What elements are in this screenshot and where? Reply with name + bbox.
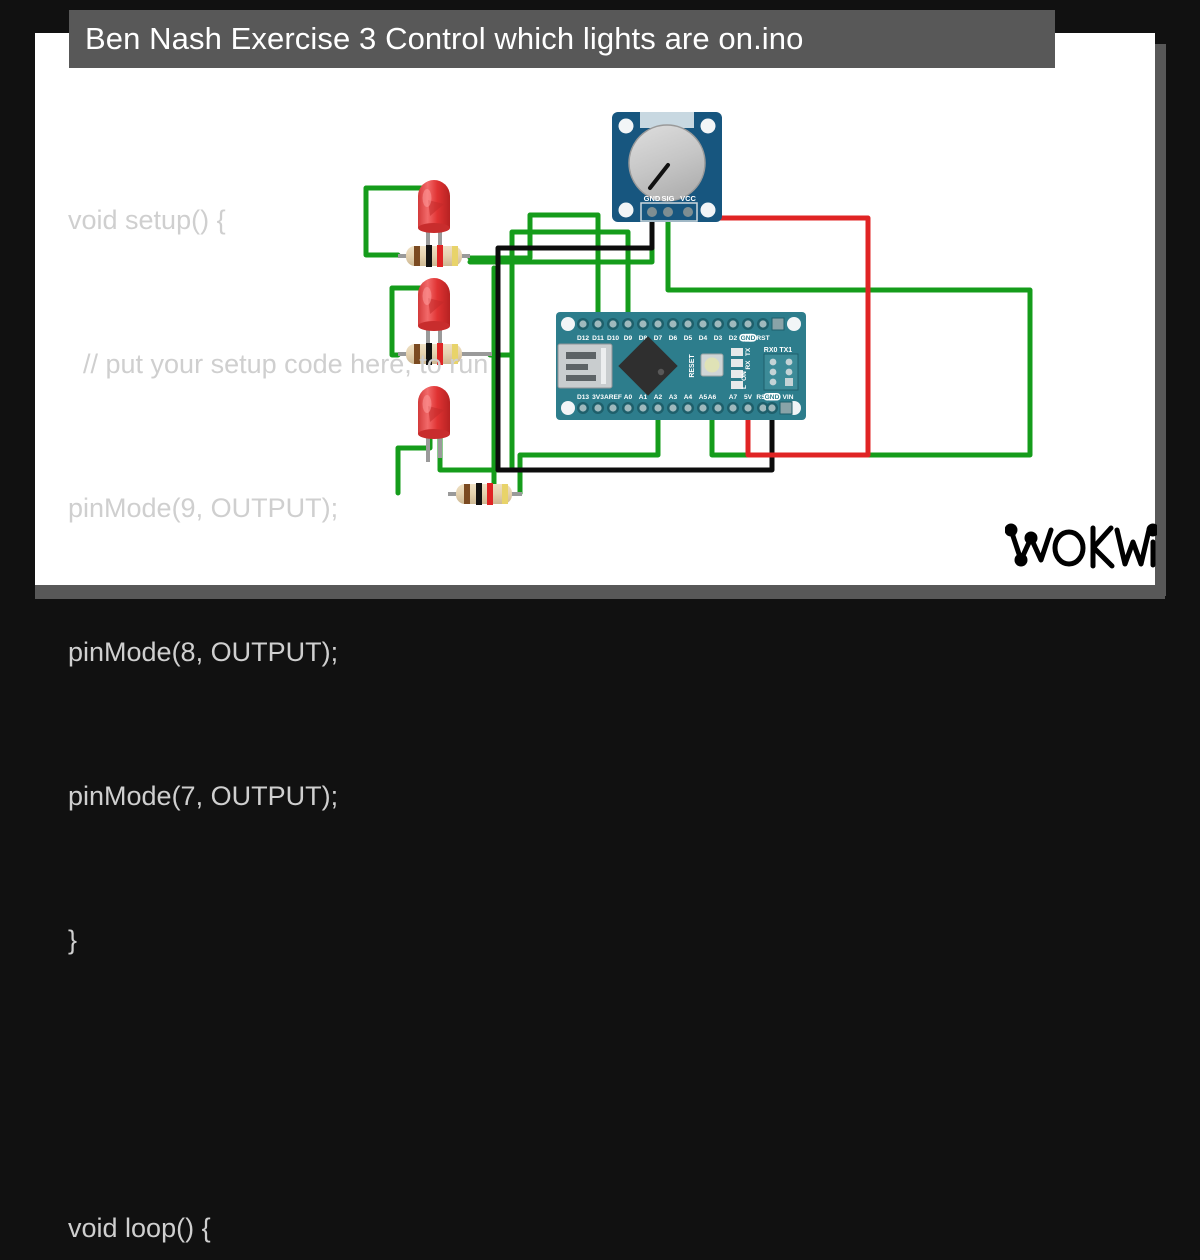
svg-text:GND: GND (741, 335, 756, 342)
svg-text:D12: D12 (577, 335, 589, 342)
svg-text:A1: A1 (639, 394, 648, 401)
svg-text:D7: D7 (654, 335, 663, 342)
svg-text:3V3: 3V3 (592, 394, 604, 401)
code-line: } (68, 916, 828, 964)
code-bottom-mask (35, 585, 1165, 599)
screenshot-root: GND SIG VCC D12D11 D (0, 0, 1200, 630)
svg-text:D5: D5 (684, 335, 693, 342)
svg-text:A0: A0 (624, 394, 633, 401)
nano-bottom-header (577, 402, 792, 414)
svg-text:L: L (741, 385, 748, 389)
svg-text:A7: A7 (729, 394, 738, 401)
code-line (68, 1060, 828, 1108)
svg-text:D4: D4 (699, 335, 708, 342)
resistor-2[interactable] (398, 343, 492, 365)
wokwi-logo-mark (1005, 520, 1157, 572)
nano-bottom-pin-labels: D133V3 AREFA0 A1A2 A3A4 A5A6 A75V RST GN… (577, 394, 794, 401)
svg-text:RX: RX (745, 360, 752, 370)
svg-text:D2: D2 (729, 335, 738, 342)
reset-label: RESET (689, 354, 696, 378)
svg-text:A6: A6 (708, 394, 717, 401)
svg-text:A3: A3 (669, 394, 678, 401)
resistor-1[interactable] (398, 245, 470, 267)
svg-text:A4: A4 (684, 394, 693, 401)
code-line: pinMode(8, OUTPUT); (68, 628, 828, 676)
svg-text:VIN: VIN (783, 394, 794, 401)
svg-text:D6: D6 (669, 335, 678, 342)
svg-text:TX: TX (745, 347, 752, 356)
pot-pin-label-vcc: VCC (680, 194, 696, 203)
led-3[interactable] (418, 386, 450, 462)
svg-text:GND: GND (765, 394, 780, 401)
nano-icsp-label: RX0 TX1 (764, 347, 793, 354)
svg-text:AREF: AREF (604, 394, 622, 401)
svg-text:D13: D13 (577, 394, 589, 401)
svg-text:5V: 5V (744, 394, 753, 401)
svg-text:D9: D9 (624, 335, 633, 342)
svg-text:D3: D3 (714, 335, 723, 342)
reset-button[interactable] (701, 354, 723, 376)
svg-text:A2: A2 (654, 394, 663, 401)
potentiometer-module[interactable]: GND SIG VCC (612, 112, 722, 222)
svg-text:D10: D10 (607, 335, 619, 342)
usb-connector (558, 344, 612, 388)
arduino-nano-board[interactable]: D12D11 D10D9 D8D7 D6D5 D4D3 D2 GND RST R… (556, 312, 806, 420)
code-line: void loop() { (68, 1204, 828, 1252)
wokwi-logo (1005, 520, 1157, 583)
resistor-3[interactable] (448, 483, 522, 505)
pot-pin-label-sig: SIG (662, 194, 675, 203)
svg-text:D11: D11 (592, 335, 604, 342)
project-title: Ben Nash Exercise 3 Control which lights… (69, 21, 803, 57)
project-title-bar: Ben Nash Exercise 3 Control which lights… (69, 10, 1055, 68)
icsp-header (764, 354, 798, 390)
pot-pin-label-gnd: GND (644, 194, 661, 203)
svg-text:ON: ON (741, 371, 748, 381)
code-line: pinMode(7, OUTPUT); (68, 772, 828, 820)
svg-text:A5: A5 (699, 394, 708, 401)
svg-text:RST: RST (756, 335, 769, 342)
